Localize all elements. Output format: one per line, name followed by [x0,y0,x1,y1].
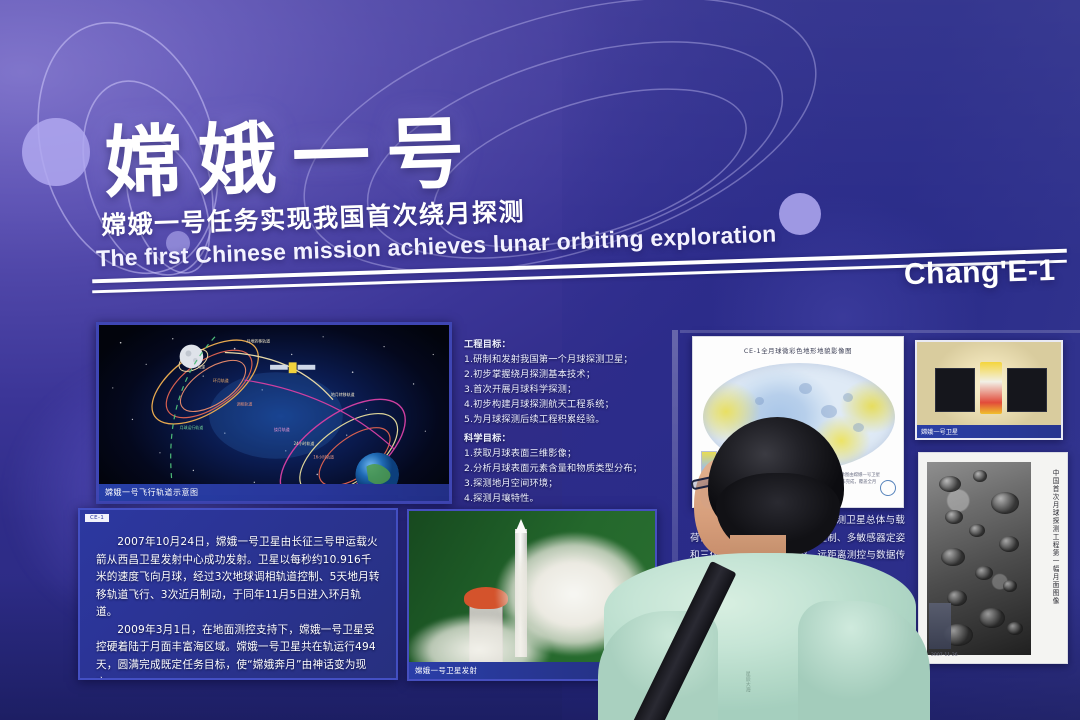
svg-text:16小时轨道: 16小时轨道 [313,455,334,460]
svg-text:月球运行轨道: 月球运行轨道 [180,425,204,430]
lunar-photo-badge [929,603,951,649]
lunar-photo-footnote: 2007-11-26 [931,653,958,658]
svg-text:月地转移轨道: 月地转移轨道 [246,339,270,344]
satellite-body [980,362,1002,414]
orbit-paths: 月地转移轨道 地月转移轨道 环月轨道 调相轨道 月球运行轨道 绕月轨道 24小时… [99,325,449,504]
svg-text:地月转移轨道: 地月转移轨道 [331,392,355,397]
satellite-solar-panel-left [935,368,975,412]
panel-tag: CE-1 [85,514,109,522]
lunar-photo-vertical-caption: 中国首次月球探测工程第一幅月面图像 [1050,469,1060,605]
orbit-diagram-panel: 月地转移轨道 地月转移轨道 环月轨道 调相轨道 月球运行轨道 绕月轨道 24小时… [96,322,452,504]
person-shirt-print: 星辰大海 [744,671,800,720]
lunar-surface-photo-panel: 中国首次月球探测工程第一幅月面图像 2007-11-26 [918,452,1068,664]
poster-header: 嫦娥一号 嫦娥一号任务实现我国首次绕月探测 The first Chinese … [0,0,1080,310]
satellite-photo-caption: 嫦娥一号卫星 [917,425,1061,438]
board-top-separator [680,330,1080,333]
svg-text:绕月轨道: 绕月轨道 [274,427,290,432]
brand-label: Chang'E-1 [904,254,1057,292]
narrative-paragraph-1: 2007年10月24日，嫦娥一号卫星由长征三号甲运载火箭从西昌卫星发射中心成功发… [96,534,380,622]
narrative-paragraph-2: 2009年3月1日，在地面测控支持下，嫦娥一号卫星受控硬着陆于月面丰富海区域。嫦… [96,622,380,680]
visitor-person: 星辰大海 [590,415,930,720]
svg-text:月球: 月球 [197,364,205,369]
orbit-diagram-caption: 嫦娥一号飞行轨道示意图 [99,484,449,501]
engineering-goal-item: 2.初步掌握绕月探测基本技术； [464,368,676,383]
satellite-solar-panel-right [1007,368,1047,412]
engineering-goals-heading: 工程目标： [464,338,676,353]
mission-narrative-panel: CE-1 2007年10月24日，嫦娥一号卫星由长征三号甲运载火箭从西昌卫星发射… [78,508,398,680]
svg-text:调相轨道: 调相轨道 [237,402,253,407]
engineering-goal-item: 1.研制和发射我国第一个月球探测卫星； [464,353,676,368]
engineering-goal-item: 3.首次开展月球科学探测； [464,383,676,398]
engineering-goal-item: 4.初步构建月球探测航天工程系统； [464,398,676,413]
shirt-print-text: 星辰大海 [744,671,751,693]
exhibition-wall-photo: 嫦娥一号 嫦娥一号任务实现我国首次绕月探测 The first Chinese … [0,0,1080,720]
svg-text:24小时轨道: 24小时轨道 [294,441,315,446]
moon-map-title: CE-1全月球微彩色地形地貌影像图 [693,346,903,355]
satellite-photo-panel: 嫦娥一号卫星 [915,340,1063,440]
svg-text:环月轨道: 环月轨道 [213,378,229,383]
